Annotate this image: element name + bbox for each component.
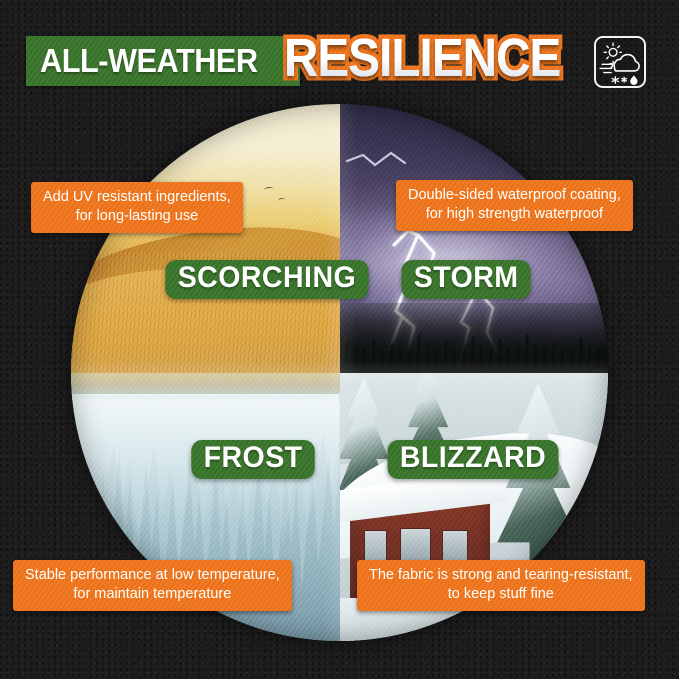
banner-scorching: Add UV resistant ingredients, for long-l… <box>31 182 243 233</box>
banner-line-2: for long-lasting use <box>43 207 231 226</box>
page-title-left: ALL-WEATHER <box>40 42 258 80</box>
title-green-band: ALL-WEATHER <box>26 36 300 86</box>
tree-line-silhouette <box>340 303 609 373</box>
weather-badge <box>594 36 646 88</box>
label-frost: FROST <box>191 440 315 479</box>
all-weather-resilience-infographic: ALL-WEATHER RESILIENCE RESILIENCE SCORCH… <box>0 0 679 679</box>
bird-silhouette-icon <box>277 198 285 204</box>
banner-line-1: Double-sided waterproof coating, <box>408 186 621 205</box>
banner-line-2: to keep stuff fine <box>369 585 633 604</box>
banner-line-1: Stable performance at low temperature, <box>25 566 280 585</box>
page-title-right-stroke: RESILIENCE <box>284 27 560 89</box>
quadrant-storm-sky <box>340 104 609 373</box>
banner-line-2: for maintain temperature <box>25 585 280 604</box>
banner-line-1: The fabric is strong and tearing-resista… <box>369 566 633 585</box>
label-blizzard: BLIZZARD <box>387 440 558 479</box>
quadrant-scorching-desert <box>71 104 340 373</box>
banner-storm: Double-sided waterproof coating, for hig… <box>396 180 633 231</box>
banner-line-2: for high strength waterproof <box>408 205 621 224</box>
label-storm: STORM <box>401 260 530 299</box>
banner-frost: Stable performance at low temperature, f… <box>13 560 292 611</box>
banner-blizzard: The fabric is strong and tearing-resista… <box>357 560 645 611</box>
label-scorching: SCORCHING <box>165 260 368 299</box>
banner-line-1: Add UV resistant ingredients, <box>43 188 231 207</box>
bird-silhouette-icon <box>264 187 274 193</box>
header: ALL-WEATHER RESILIENCE RESILIENCE <box>0 28 679 94</box>
sun-cloud-wind-snow-rain-icon <box>596 38 644 86</box>
